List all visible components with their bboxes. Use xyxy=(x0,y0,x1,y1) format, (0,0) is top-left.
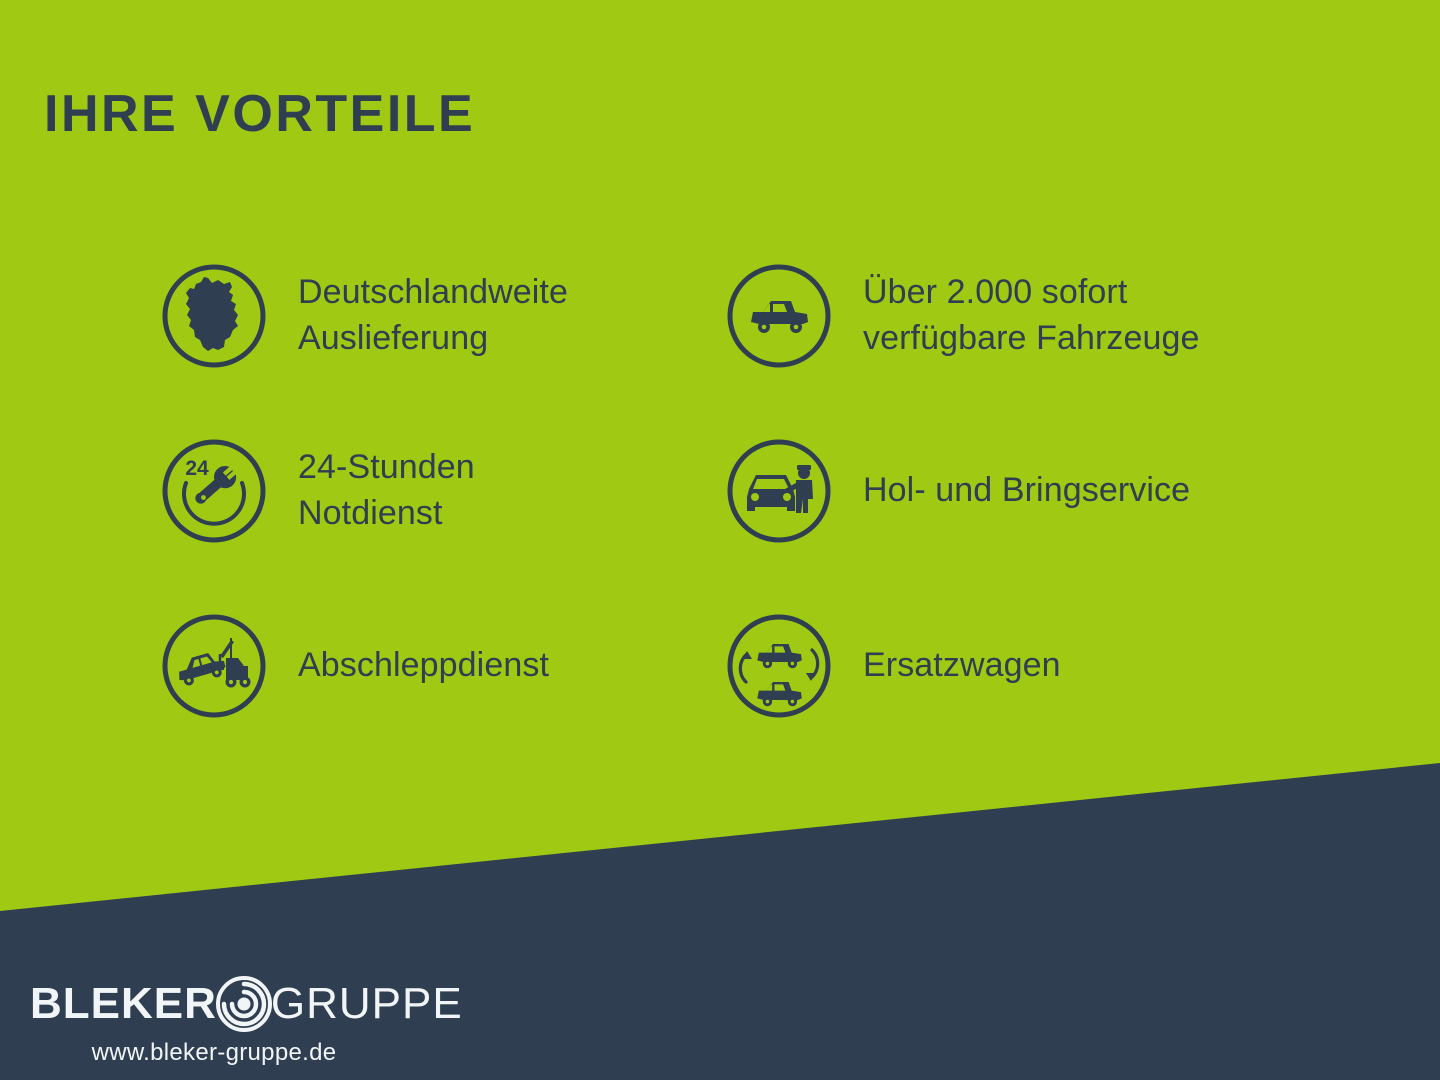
benefit-label: 24-Stunden Notdienst xyxy=(298,445,475,536)
tow-truck-icon xyxy=(158,610,270,722)
benefit-label-line1: Deutschlandweite xyxy=(298,273,568,311)
page-title: IHRE VORTEILE xyxy=(44,88,475,140)
slide-canvas: IHRE VORTEILE Deutschlandweite Ausliefer… xyxy=(0,0,1440,1080)
benefit-label-line1: Über 2.000 sofort xyxy=(863,273,1127,311)
benefit-label: Über 2.000 sofort verfügbare Fahrzeuge xyxy=(863,270,1200,361)
benefit-label: Abschleppdienst xyxy=(298,643,549,689)
benefit-label-line1: Hol- und Bringservice xyxy=(863,471,1190,509)
benefit-item-abschleppdienst[interactable]: Abschleppdienst xyxy=(158,578,723,753)
benefit-label-line2: Notdienst xyxy=(298,494,443,532)
benefit-label-line1: Abschleppdienst xyxy=(298,646,549,684)
twentyfour-badge-text: 24 xyxy=(185,457,209,480)
benefit-label-line1: 24-Stunden xyxy=(298,448,475,486)
benefit-label: Deutschlandweite Auslieferung xyxy=(298,270,568,361)
benefit-item-verfuegbare-fahrzeuge[interactable]: Über 2.000 sofort verfügbare Fahrzeuge xyxy=(723,228,1288,403)
logo-brand-light: GRUPPE xyxy=(271,982,463,1026)
benefit-item-ersatzwagen[interactable]: Ersatzwagen xyxy=(723,578,1288,753)
benefit-label: Hol- und Bringservice xyxy=(863,468,1190,514)
benefit-item-24-stunden-notdienst[interactable]: 24 24-Stunden Notdienst xyxy=(158,403,723,578)
spiral-logo-icon xyxy=(213,973,275,1035)
benefit-label-line2: verfügbare Fahrzeuge xyxy=(863,319,1200,357)
footer-logo[interactable]: BLEKER GRUPPE www.bleker-gruppe.de xyxy=(30,975,430,1067)
benefits-grid: Deutschlandweite Auslieferung Über xyxy=(158,228,1398,753)
twentyfour-hour-wrench-icon: 24 xyxy=(158,435,270,547)
benefit-item-deutschlandweite-auslieferung[interactable]: Deutschlandweite Auslieferung xyxy=(158,228,723,403)
germany-map-icon xyxy=(158,260,270,372)
logo-url[interactable]: www.bleker-gruppe.de xyxy=(30,1039,398,1067)
benefit-item-hol-und-bringservice[interactable]: Hol- und Bringservice xyxy=(723,403,1288,578)
benefit-label-line2: Auslieferung xyxy=(298,319,488,357)
logo-row: BLEKER GRUPPE xyxy=(30,975,430,1033)
benefit-label: Ersatzwagen xyxy=(863,643,1061,689)
car-side-icon xyxy=(723,260,835,372)
car-exchange-icon xyxy=(723,610,835,722)
car-with-driver-icon xyxy=(723,435,835,547)
benefit-label-line1: Ersatzwagen xyxy=(863,646,1061,684)
logo-brand-bold: BLEKER xyxy=(30,982,217,1026)
